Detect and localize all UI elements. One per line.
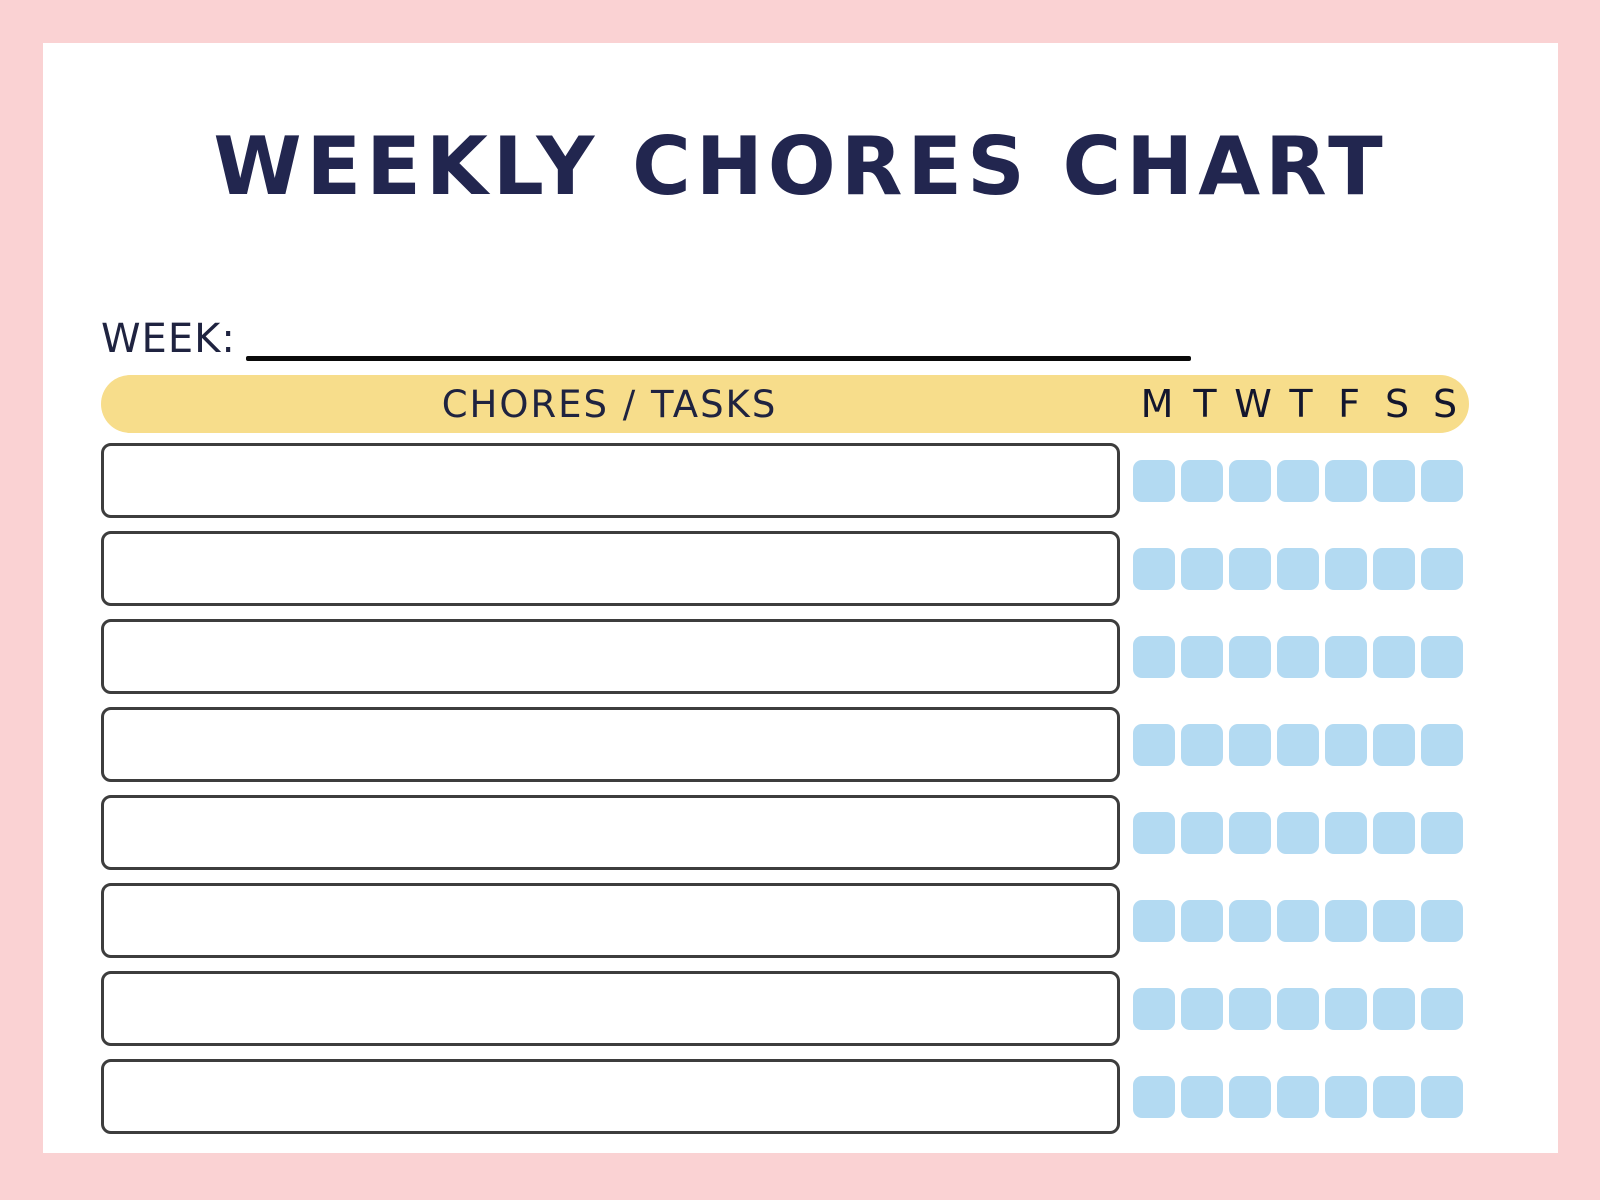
day-checkbox[interactable] bbox=[1325, 636, 1367, 678]
day-checkbox[interactable] bbox=[1229, 548, 1271, 590]
day-checkbox-group bbox=[1133, 707, 1469, 782]
day-checkbox-group bbox=[1133, 971, 1469, 1046]
day-checkbox[interactable] bbox=[1325, 1076, 1367, 1118]
day-checkbox[interactable] bbox=[1373, 636, 1415, 678]
task-input-box[interactable] bbox=[101, 443, 1120, 518]
week-field-row: WEEK: bbox=[101, 293, 1191, 363]
day-checkbox[interactable] bbox=[1229, 988, 1271, 1030]
day-header-saturday: S bbox=[1373, 375, 1421, 433]
task-input-box[interactable] bbox=[101, 619, 1120, 694]
day-checkbox[interactable] bbox=[1277, 548, 1319, 590]
chore-row bbox=[101, 531, 1469, 606]
task-input-box[interactable] bbox=[101, 795, 1120, 870]
week-label: WEEK: bbox=[101, 319, 236, 363]
day-checkbox[interactable] bbox=[1229, 812, 1271, 854]
chore-row bbox=[101, 883, 1469, 958]
day-checkbox[interactable] bbox=[1325, 988, 1367, 1030]
day-checkbox[interactable] bbox=[1181, 724, 1223, 766]
day-checkbox[interactable] bbox=[1421, 548, 1463, 590]
day-header-sunday: S bbox=[1421, 375, 1469, 433]
day-checkbox[interactable] bbox=[1373, 812, 1415, 854]
day-checkbox[interactable] bbox=[1373, 724, 1415, 766]
chores-chart-page: WEEKLY CHORES CHART WEEK: CHORES / TASKS… bbox=[0, 0, 1600, 1200]
day-checkbox[interactable] bbox=[1181, 548, 1223, 590]
day-checkbox[interactable] bbox=[1421, 460, 1463, 502]
day-checkbox[interactable] bbox=[1421, 900, 1463, 942]
day-checkbox[interactable] bbox=[1181, 460, 1223, 502]
day-checkbox[interactable] bbox=[1133, 636, 1175, 678]
column-header-chores-tasks: CHORES / TASKS bbox=[101, 386, 1118, 423]
day-checkbox[interactable] bbox=[1325, 460, 1367, 502]
day-checkbox[interactable] bbox=[1421, 988, 1463, 1030]
day-checkbox[interactable] bbox=[1229, 460, 1271, 502]
day-checkbox[interactable] bbox=[1133, 988, 1175, 1030]
day-checkbox[interactable] bbox=[1229, 636, 1271, 678]
task-input-box[interactable] bbox=[101, 883, 1120, 958]
day-checkbox[interactable] bbox=[1181, 812, 1223, 854]
day-checkbox-group bbox=[1133, 883, 1469, 958]
day-header-tuesday: T bbox=[1181, 375, 1229, 433]
day-checkbox[interactable] bbox=[1133, 548, 1175, 590]
day-checkbox[interactable] bbox=[1133, 460, 1175, 502]
chore-row bbox=[101, 443, 1469, 518]
day-checkbox[interactable] bbox=[1373, 460, 1415, 502]
day-header-friday: F bbox=[1325, 375, 1373, 433]
day-checkbox[interactable] bbox=[1421, 724, 1463, 766]
day-checkbox[interactable] bbox=[1181, 1076, 1223, 1118]
day-checkbox-group bbox=[1133, 619, 1469, 694]
day-checkbox[interactable] bbox=[1325, 900, 1367, 942]
page-title: WEEKLY CHORES CHART bbox=[43, 127, 1558, 207]
day-checkbox-group bbox=[1133, 443, 1469, 518]
chore-row bbox=[101, 707, 1469, 782]
day-checkbox[interactable] bbox=[1181, 636, 1223, 678]
day-checkbox[interactable] bbox=[1421, 1076, 1463, 1118]
day-checkbox[interactable] bbox=[1229, 724, 1271, 766]
day-checkbox[interactable] bbox=[1325, 548, 1367, 590]
table-header-bar: CHORES / TASKS M T W T F S S bbox=[101, 375, 1469, 433]
day-checkbox[interactable] bbox=[1421, 636, 1463, 678]
day-checkbox[interactable] bbox=[1181, 900, 1223, 942]
day-checkbox[interactable] bbox=[1133, 724, 1175, 766]
chore-row bbox=[101, 619, 1469, 694]
chore-rows-container bbox=[101, 443, 1469, 1147]
task-input-box[interactable] bbox=[101, 707, 1120, 782]
day-checkbox[interactable] bbox=[1277, 900, 1319, 942]
day-header-thursday: T bbox=[1277, 375, 1325, 433]
day-checkbox[interactable] bbox=[1229, 1076, 1271, 1118]
day-checkbox[interactable] bbox=[1277, 724, 1319, 766]
task-input-box[interactable] bbox=[101, 971, 1120, 1046]
day-checkbox[interactable] bbox=[1325, 724, 1367, 766]
day-checkbox[interactable] bbox=[1277, 460, 1319, 502]
day-checkbox[interactable] bbox=[1277, 1076, 1319, 1118]
day-checkbox[interactable] bbox=[1325, 812, 1367, 854]
day-checkbox-group bbox=[1133, 795, 1469, 870]
day-checkbox[interactable] bbox=[1277, 812, 1319, 854]
day-checkbox[interactable] bbox=[1373, 900, 1415, 942]
day-header-monday: M bbox=[1133, 375, 1181, 433]
task-input-box[interactable] bbox=[101, 1059, 1120, 1134]
day-header-wednesday: W bbox=[1229, 375, 1277, 433]
day-checkbox-group bbox=[1133, 1059, 1469, 1134]
week-input-line[interactable] bbox=[246, 356, 1191, 361]
day-checkbox[interactable] bbox=[1133, 812, 1175, 854]
day-checkbox[interactable] bbox=[1421, 812, 1463, 854]
day-checkbox[interactable] bbox=[1373, 1076, 1415, 1118]
day-checkbox[interactable] bbox=[1277, 636, 1319, 678]
day-checkbox[interactable] bbox=[1133, 900, 1175, 942]
chart-sheet: WEEKLY CHORES CHART WEEK: CHORES / TASKS… bbox=[43, 43, 1558, 1153]
day-checkbox[interactable] bbox=[1229, 900, 1271, 942]
column-headers-days: M T W T F S S bbox=[1133, 375, 1469, 433]
day-checkbox[interactable] bbox=[1133, 1076, 1175, 1118]
chore-row bbox=[101, 971, 1469, 1046]
day-checkbox[interactable] bbox=[1181, 988, 1223, 1030]
task-input-box[interactable] bbox=[101, 531, 1120, 606]
day-checkbox[interactable] bbox=[1277, 988, 1319, 1030]
chore-row bbox=[101, 795, 1469, 870]
day-checkbox[interactable] bbox=[1373, 548, 1415, 590]
day-checkbox-group bbox=[1133, 531, 1469, 606]
day-checkbox[interactable] bbox=[1373, 988, 1415, 1030]
chore-row bbox=[101, 1059, 1469, 1134]
